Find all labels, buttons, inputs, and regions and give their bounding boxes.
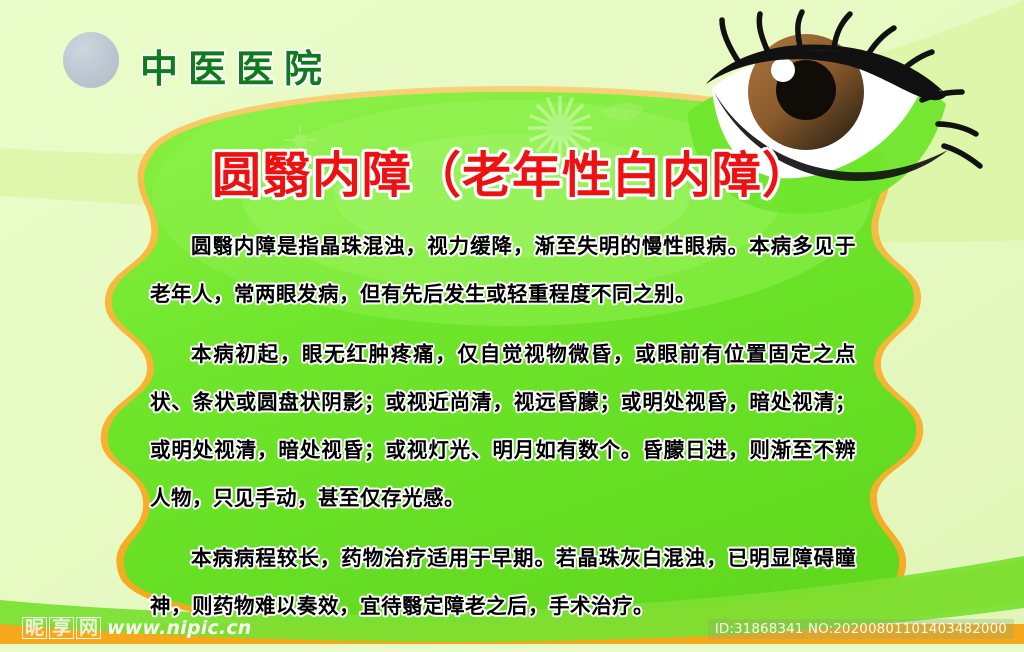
poster-canvas: 中医医院 圆翳内障（老年性白内障） 圆翳内障是指晶珠混浊，视力缓降，渐至失明的慢… [0, 0, 1024, 652]
site-watermark: 昵 享 网 www.nipic.cn [22, 617, 252, 639]
watermark-char-1: 昵 [22, 617, 47, 639]
paragraph-2: 本病初起，眼无红肿疼痛，仅自觉视物微昏，或眼前有位置固定之点状、条状或圆盘状阴影… [150, 330, 856, 522]
circle-logo-icon [63, 32, 119, 88]
paragraph-1: 圆翳内障是指晶珠混浊，视力缓降，渐至失明的慢性眼病。本病多见于老年人，常两眼发病… [150, 222, 856, 318]
page-title: 圆翳内障（老年性白内障） [0, 136, 1024, 207]
watermark-char-3: 网 [76, 617, 101, 639]
watermark-chars: 昵 享 网 [22, 617, 101, 639]
body-text-block: 圆翳内障是指晶珠混浊，视力缓降，渐至失明的慢性眼病。本病多见于老年人，常两眼发病… [150, 222, 856, 630]
hospital-name: 中医医院 [140, 38, 332, 93]
watermark-url: www.nipic.cn [107, 617, 251, 639]
footer-watermark-bar: 昵 享 网 www.nipic.cn ID:31868341 NO:202008… [0, 605, 1024, 652]
watermark-char-2: 享 [49, 617, 74, 639]
asset-id-text: ID:31868341 NO:20200801101403482000 [708, 619, 1014, 639]
